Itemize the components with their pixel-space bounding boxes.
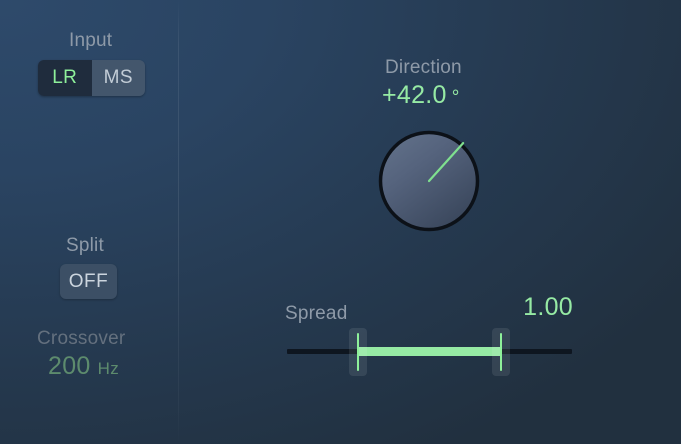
direction-section-label: Direction bbox=[385, 57, 462, 79]
input-mode-option-ms[interactable]: MS bbox=[92, 60, 146, 96]
spread-section-label: Spread bbox=[285, 303, 347, 325]
split-section-label: Split bbox=[66, 235, 104, 257]
stereo-spread-plugin-window: Input LR MS Split OFF Crossover 200 Hz D… bbox=[0, 0, 681, 444]
crossover-value-unit: Hz bbox=[98, 359, 119, 379]
panel-divider bbox=[178, 0, 179, 444]
direction-knob[interactable] bbox=[377, 129, 481, 233]
spread-value-field[interactable]: 1.00 bbox=[515, 293, 573, 322]
spread-slider-handle-left[interactable] bbox=[349, 328, 367, 376]
crossover-section-label: Crossover bbox=[37, 328, 125, 350]
direction-value-field[interactable]: +42.0 ° bbox=[382, 81, 460, 110]
input-mode-segmented-control[interactable]: LR MS bbox=[38, 60, 145, 96]
input-mode-option-lr[interactable]: LR bbox=[38, 60, 92, 96]
direction-value-unit: ° bbox=[452, 87, 460, 109]
direction-value-number: +42.0 bbox=[382, 81, 447, 110]
spread-slider-fill bbox=[358, 347, 501, 356]
crossover-value-field[interactable]: 200 Hz bbox=[48, 352, 119, 381]
input-section-label: Input bbox=[69, 30, 112, 52]
split-toggle-button[interactable]: OFF bbox=[60, 264, 117, 299]
spread-slider-handle-right[interactable] bbox=[492, 328, 510, 376]
spread-range-slider[interactable] bbox=[287, 328, 572, 376]
crossover-value-number: 200 bbox=[48, 352, 91, 381]
